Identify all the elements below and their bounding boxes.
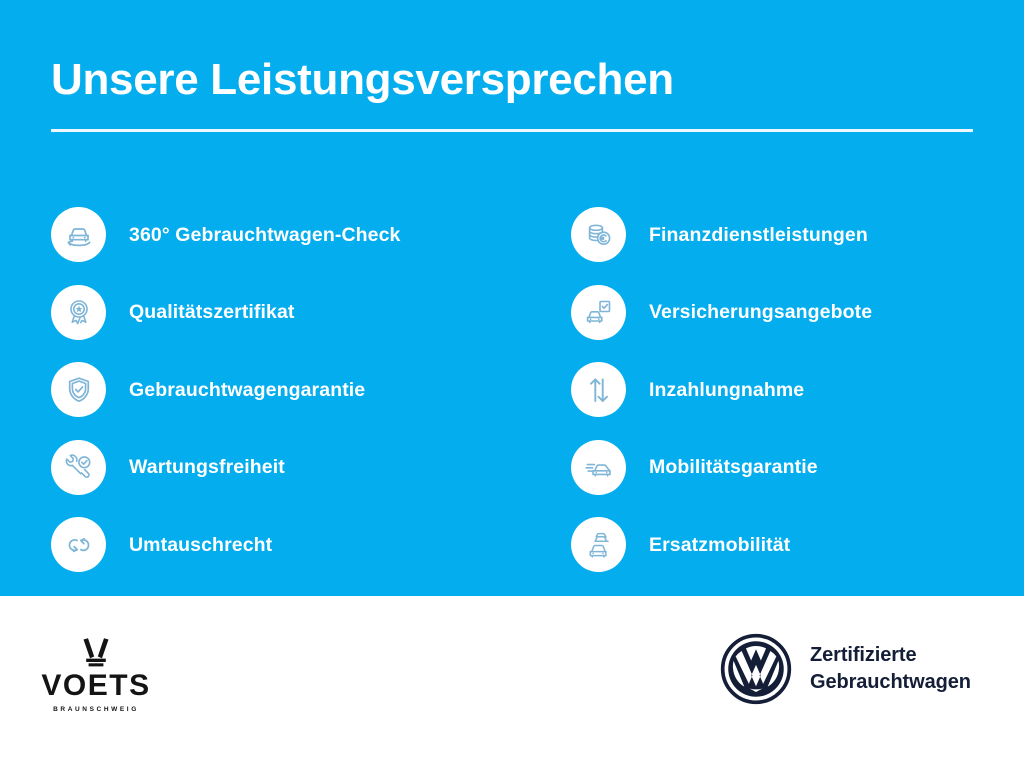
promise-banner-page: Unsere Leistungsversprechen [0,0,1024,768]
manufacturer-caption: Zertifizierte Gebrauchtwagen [810,642,971,696]
dealer-logo: VOETS BRAUNSCHWEIG [46,636,146,714]
manufacturer-caption-line1: Zertifizierte [810,642,971,669]
title-divider [51,129,973,132]
promise-label: Gebrauchtwagengarantie [129,378,365,402]
exchange-arrows-icon [51,517,106,572]
promise-label: Wartungsfreiheit [129,455,285,479]
award-rosette-icon [51,285,106,340]
promise-item-versicherungsangebote[interactable]: Versicherungsangebote [571,274,1024,352]
dealer-name: VOETS [41,670,150,702]
multiple-cars-icon [571,517,626,572]
car-motion-icon [571,440,626,495]
coins-euro-icon [571,207,626,262]
promise-label: Ersatzmobilität [649,533,790,557]
promise-grid: 360° Gebrauchtwagen-Check Finanzdienstle… [0,196,1024,584]
promise-item-gebrauchtwagen-check[interactable]: 360° Gebrauchtwagen-Check [51,196,571,274]
promise-item-umtauschrecht[interactable]: Umtauschrecht [51,506,571,584]
shield-check-icon [51,362,106,417]
manufacturer-badge: Zertifizierte Gebrauchtwagen [719,632,971,706]
promise-item-gebrauchtwagengarantie[interactable]: Gebrauchtwagengarantie [51,351,571,429]
manufacturer-caption-line2: Gebrauchtwagen [810,669,971,696]
car-document-check-icon [571,285,626,340]
promise-label: Mobilitätsgarantie [649,455,818,479]
promise-item-finanzdienstleistungen[interactable]: Finanzdienstleistungen [571,196,1024,274]
page-title: Unsere Leistungsversprechen [51,52,674,108]
promise-label: 360° Gebrauchtwagen-Check [129,223,400,247]
promise-label: Qualitätszertifikat [129,300,295,324]
promise-label: Finanzdienstleistungen [649,223,868,247]
voets-chevron-mark-icon [79,636,113,668]
wrench-check-icon [51,440,106,495]
vw-logo-icon [719,632,793,706]
promise-label: Umtauschrecht [129,533,272,557]
promise-label: Versicherungsangebote [649,300,872,324]
promise-item-mobilitaetsgarantie[interactable]: Mobilitätsgarantie [571,429,1024,507]
promise-item-inzahlungnahme[interactable]: Inzahlungnahme [571,351,1024,429]
promise-item-ersatzmobilitaet[interactable]: Ersatzmobilität [571,506,1024,584]
promise-label: Inzahlungnahme [649,378,804,402]
promise-item-wartungsfreiheit[interactable]: Wartungsfreiheit [51,429,571,507]
dealer-city: BRAUNSCHWEIG [53,705,139,714]
arrows-up-down-icon [571,362,626,417]
footer-panel: VOETS BRAUNSCHWEIG Zertifizierte Gebrauc… [0,596,1024,768]
hero-panel: Unsere Leistungsversprechen [0,0,1024,596]
car-360-check-icon [51,207,106,262]
promise-item-qualitaetszertifikat[interactable]: Qualitätszertifikat [51,274,571,352]
